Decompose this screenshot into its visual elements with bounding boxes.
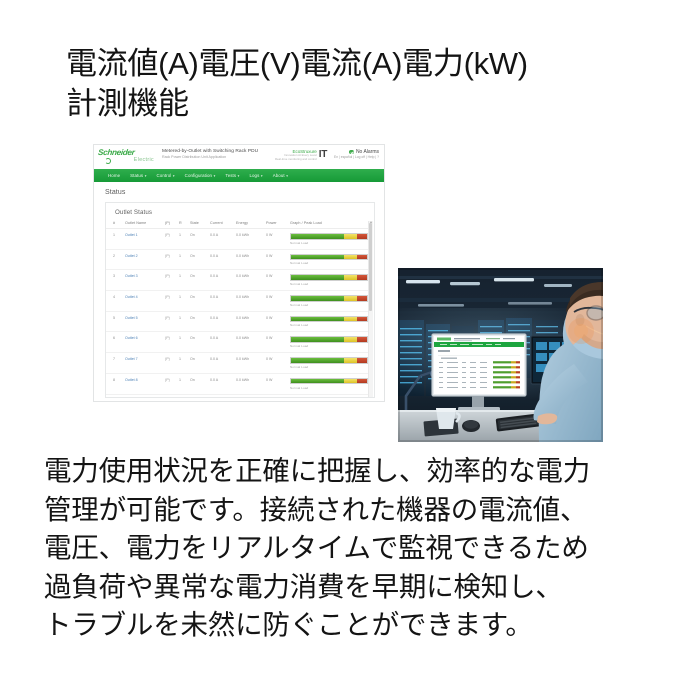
cell-power: 0 W xyxy=(266,311,290,332)
load-bar-green xyxy=(291,358,344,363)
chevron-down-icon: ▾ xyxy=(238,174,240,178)
body-copy-line-5: トラブルを未然に防ぐことができます。 xyxy=(44,606,669,645)
cell-index: 7 xyxy=(106,353,125,374)
cell-current: 0.0 A xyxy=(210,373,236,394)
cell-p: (P) xyxy=(165,353,179,374)
nav-item-configuration[interactable]: Configuration▾ xyxy=(185,173,216,178)
cell-index: 6 xyxy=(106,332,125,353)
cell-state: On xyxy=(190,249,210,270)
outlet-status-panel: Outlet Status # Outlet Name (P) R State … xyxy=(105,202,375,398)
scroll-down-icon[interactable] xyxy=(370,397,372,398)
scrollbar-thumb[interactable] xyxy=(369,223,372,311)
load-bar-yellow xyxy=(344,275,357,280)
table-row[interactable]: 2Outlet 2(P)1On0.0 A0.0 kWh0 WNormal Loa… xyxy=(106,249,370,270)
cell-outlet-name[interactable]: Outlet 8 xyxy=(125,373,165,394)
datacenter-photo-illustration xyxy=(398,268,603,442)
cell-p: (P) xyxy=(165,394,179,398)
load-bar-red xyxy=(357,296,367,301)
load-status-label: Normal Load xyxy=(290,260,368,265)
cell-state: On xyxy=(190,311,210,332)
ecostruxure-tagline-2: Real-time monitoring and control xyxy=(275,158,317,161)
cell-current: 0.0 A xyxy=(210,249,236,270)
cell-outlet-name[interactable]: Outlet 6 xyxy=(125,332,165,353)
chevron-down-icon: ▾ xyxy=(286,174,288,178)
table-row[interactable]: 3Outlet 3(P)1On0.0 A0.0 kWh0 WNormal Loa… xyxy=(106,270,370,291)
outlet-table-scroll-area: # Outlet Name (P) R State Current Energy… xyxy=(106,221,374,398)
schneider-electric-logo: Schneider Electric xyxy=(98,148,156,163)
ecostruxure-it-label: IT xyxy=(319,150,327,160)
load-bar-red xyxy=(357,234,367,239)
chevron-down-icon: ▾ xyxy=(261,174,263,178)
cell-power: 0 W xyxy=(266,373,290,394)
load-bar-red xyxy=(357,379,367,384)
cell-current: 0.0 A xyxy=(210,270,236,291)
cell-graph-peak-load: Normal Load xyxy=(290,311,370,332)
cell-p: (P) xyxy=(165,311,179,332)
load-bar-yellow xyxy=(344,296,357,301)
header-links[interactable]: En | español | Log off | Help | ? xyxy=(334,155,379,159)
cell-power: 0 W xyxy=(266,229,290,250)
cell-outlet-name[interactable]: Outlet 3 xyxy=(125,270,165,291)
load-bar-red xyxy=(357,255,367,260)
load-bar-green xyxy=(291,317,344,322)
load-bar-green xyxy=(291,255,344,260)
load-bar-yellow xyxy=(344,317,357,322)
page-title: 電流値(A)電圧(V)電流(A)電力(kW) 計測機能 xyxy=(66,44,666,125)
cell-state: On xyxy=(190,373,210,394)
table-row[interactable]: 7Outlet 7(P)1On0.0 A0.0 kWh0 WNormal Loa… xyxy=(106,353,370,374)
cell-p: (P) xyxy=(165,249,179,270)
cell-graph-peak-load: Normal Load xyxy=(290,353,370,374)
col-p[interactable]: (P) xyxy=(165,221,179,229)
load-bar-yellow xyxy=(344,358,357,363)
cell-index: 9 xyxy=(106,394,125,398)
pdu-web-ui-screenshot: Schneider Electric Metered-by-Outlet wit… xyxy=(93,144,385,402)
cell-power: 0 W xyxy=(266,249,290,270)
brand-subname: Electric xyxy=(98,157,156,163)
cell-p: (P) xyxy=(165,291,179,312)
cell-current: 0.0 A xyxy=(210,291,236,312)
ecostruxure-badge: EcoStruxure Innovation At Every Level Re… xyxy=(275,148,327,161)
chevron-down-icon: ▾ xyxy=(145,174,147,178)
cell-power: 0 W xyxy=(266,270,290,291)
cell-index: 1 xyxy=(106,229,125,250)
cell-energy: 0.0 kWh xyxy=(236,394,266,398)
chevron-down-icon: ▾ xyxy=(173,174,175,178)
cell-index: 4 xyxy=(106,291,125,312)
load-bar-yellow xyxy=(344,379,357,384)
status-page-title: Status xyxy=(105,189,375,196)
nav-item-home[interactable]: Home xyxy=(108,173,120,178)
col-state[interactable]: State xyxy=(190,221,210,229)
load-bar-yellow xyxy=(344,337,357,342)
cell-energy: 0.0 kWh xyxy=(236,291,266,312)
cell-p: (P) xyxy=(165,373,179,394)
load-status-label: Normal Load xyxy=(290,302,368,307)
page-title-line-1: 電流値(A)電圧(V)電流(A)電力(kW) xyxy=(66,44,666,84)
cell-energy: 0.0 kWh xyxy=(236,270,266,291)
cell-outlet-name[interactable]: Outlet 4 xyxy=(125,291,165,312)
cell-state: On xyxy=(190,332,210,353)
table-row[interactable]: 5Outlet 5(P)1On0.0 A0.0 kWh0 WNormal Loa… xyxy=(106,311,370,332)
load-status-label: Normal Load xyxy=(290,364,368,369)
load-bar-green xyxy=(291,275,344,280)
cell-energy: 0.0 kWh xyxy=(236,311,266,332)
table-header-row: # Outlet Name (P) R State Current Energy… xyxy=(106,221,370,229)
load-bar-green xyxy=(291,337,344,342)
cell-outlet-name[interactable]: Outlet 7 xyxy=(125,353,165,374)
body-copy: 電力使用状況を正確に把握し、効率的な電力 管理が可能です。接続された機器の電流値… xyxy=(44,452,669,645)
cell-graph-peak-load: Normal Load xyxy=(290,332,370,353)
cell-energy: 0.0 kWh xyxy=(236,332,266,353)
col-graph-peak-load[interactable]: Graph / Peak Load xyxy=(290,221,370,229)
cell-outlet-name[interactable]: Outlet 5 xyxy=(125,311,165,332)
cell-index: 5 xyxy=(106,311,125,332)
cell-graph-peak-load: Normal Load xyxy=(290,394,370,398)
cell-state: On xyxy=(190,394,210,398)
device-subtitle: Rack Power Distribution Unit Application xyxy=(162,155,275,160)
outlet-status-table: # Outlet Name (P) R State Current Energy… xyxy=(106,221,370,398)
device-title-block: Metered-by-Outlet with Switching Rack PD… xyxy=(156,148,275,160)
cell-power: 0 W xyxy=(266,353,290,374)
load-bar-red xyxy=(357,317,367,322)
cell-outlet-name[interactable]: Outlet 9 xyxy=(125,394,165,398)
nav-item-status[interactable]: Status▾ xyxy=(130,173,146,178)
cell-outlet-name[interactable]: Outlet 1 xyxy=(125,229,165,250)
outlet-status-panel-title: Outlet Status xyxy=(106,203,374,221)
body-copy-line-4: 過負荷や異常な電力消費を早期に検知し、 xyxy=(44,568,669,607)
cell-state: On xyxy=(190,291,210,312)
cell-r: 1 xyxy=(179,373,190,394)
cell-r: 1 xyxy=(179,270,190,291)
cell-r: 1 xyxy=(179,291,190,312)
main-navigation[interactable]: Home Status▾ Control▾ Configuration▾ Tes… xyxy=(94,169,384,182)
cell-state: On xyxy=(190,229,210,250)
body-copy-line-1: 電力使用状況を正確に把握し、効率的な電力 xyxy=(44,452,669,491)
col-outlet-name[interactable]: Outlet Name xyxy=(125,221,165,229)
pdu-header: Schneider Electric Metered-by-Outlet wit… xyxy=(94,145,384,169)
load-bar-yellow xyxy=(344,234,357,239)
cell-current: 0.0 A xyxy=(210,394,236,398)
pdu-content: Status Outlet Status # Outlet Name (P) R… xyxy=(94,182,384,398)
cell-r: 1 xyxy=(179,229,190,250)
table-scrollbar[interactable] xyxy=(368,221,373,398)
load-bar-red xyxy=(357,275,367,280)
cell-energy: 0.0 kWh xyxy=(236,373,266,394)
cell-current: 0.0 A xyxy=(210,229,236,250)
col-energy[interactable]: Energy xyxy=(236,221,266,229)
cell-r: 1 xyxy=(179,394,190,398)
load-status-label: Normal Load xyxy=(290,240,368,245)
nav-item-control[interactable]: Control▾ xyxy=(157,173,175,178)
table-row[interactable]: 9Outlet 9(P)1On0.0 A0.0 kWh0 WNormal Loa… xyxy=(106,394,370,398)
cell-p: (P) xyxy=(165,229,179,250)
cell-r: 1 xyxy=(179,249,190,270)
table-row[interactable]: 1Outlet 1(P)1On0.0 A0.0 kWh0 WNormal Loa… xyxy=(106,229,370,250)
cell-graph-peak-load: Normal Load xyxy=(290,270,370,291)
chevron-down-icon: ▾ xyxy=(214,174,216,178)
table-row[interactable]: 4Outlet 4(P)1On0.0 A0.0 kWh0 WNormal Loa… xyxy=(106,291,370,312)
cell-index: 8 xyxy=(106,373,125,394)
load-status-label: Normal Load xyxy=(290,343,368,348)
cell-power: 0 W xyxy=(266,291,290,312)
col-r[interactable]: R xyxy=(179,221,190,229)
cell-state: On xyxy=(190,270,210,291)
outlet-table-body: 1Outlet 1(P)1On0.0 A0.0 kWh0 WNormal Loa… xyxy=(106,229,370,399)
cell-energy: 0.0 kWh xyxy=(236,249,266,270)
cell-p: (P) xyxy=(165,332,179,353)
cell-graph-peak-load: Normal Load xyxy=(290,229,370,250)
cell-graph-peak-load: Normal Load xyxy=(290,249,370,270)
cell-graph-peak-load: Normal Load xyxy=(290,373,370,394)
cell-graph-peak-load: Normal Load xyxy=(290,291,370,312)
cell-r: 1 xyxy=(179,353,190,374)
cell-power: 0 W xyxy=(266,394,290,398)
cell-power: 0 W xyxy=(266,332,290,353)
col-current[interactable]: Current xyxy=(210,221,236,229)
cell-outlet-name[interactable]: Outlet 2 xyxy=(125,249,165,270)
table-row[interactable]: 6Outlet 6(P)1On0.0 A0.0 kWh0 WNormal Loa… xyxy=(106,332,370,353)
table-row[interactable]: 8Outlet 8(P)1On0.0 A0.0 kWh0 WNormal Loa… xyxy=(106,373,370,394)
cell-energy: 0.0 kWh xyxy=(236,353,266,374)
cell-current: 0.0 A xyxy=(210,311,236,332)
cell-state: On xyxy=(190,353,210,374)
check-circle-icon xyxy=(349,150,354,155)
datacenter-photo xyxy=(398,268,603,442)
body-copy-line-2: 管理が可能です。接続された機器の電流値、 xyxy=(44,491,669,530)
cell-current: 0.0 A xyxy=(210,353,236,374)
col-index[interactable]: # xyxy=(106,221,125,229)
cell-current: 0.0 A xyxy=(210,332,236,353)
cell-index: 3 xyxy=(106,270,125,291)
brand-name: Schneider xyxy=(98,149,157,157)
nav-item-logs[interactable]: Logs▾ xyxy=(249,173,262,178)
load-status-label: Normal Load xyxy=(290,281,368,286)
header-right-block: No Alarms En | español | Log off | Help … xyxy=(327,148,379,159)
cell-p: (P) xyxy=(165,270,179,291)
load-status-label: Normal Load xyxy=(290,384,368,389)
load-bar-red xyxy=(357,337,367,342)
nav-item-about[interactable]: About▾ xyxy=(273,173,288,178)
cell-r: 1 xyxy=(179,332,190,353)
page-title-line-2: 計測機能 xyxy=(66,84,666,124)
load-status-label: Normal Load xyxy=(290,322,368,327)
col-power[interactable]: Power xyxy=(266,221,290,229)
cell-index: 2 xyxy=(106,249,125,270)
cell-r: 1 xyxy=(179,311,190,332)
load-bar-green xyxy=(291,379,344,384)
load-bar-yellow xyxy=(344,255,357,260)
load-bar-green xyxy=(291,296,344,301)
load-bar-green xyxy=(291,234,344,239)
body-copy-line-3: 電圧、電力をリアルタイムで監視できるため xyxy=(44,529,669,568)
nav-item-tests[interactable]: Tests▾ xyxy=(225,173,239,178)
load-bar-red xyxy=(357,358,367,363)
cell-energy: 0.0 kWh xyxy=(236,229,266,250)
